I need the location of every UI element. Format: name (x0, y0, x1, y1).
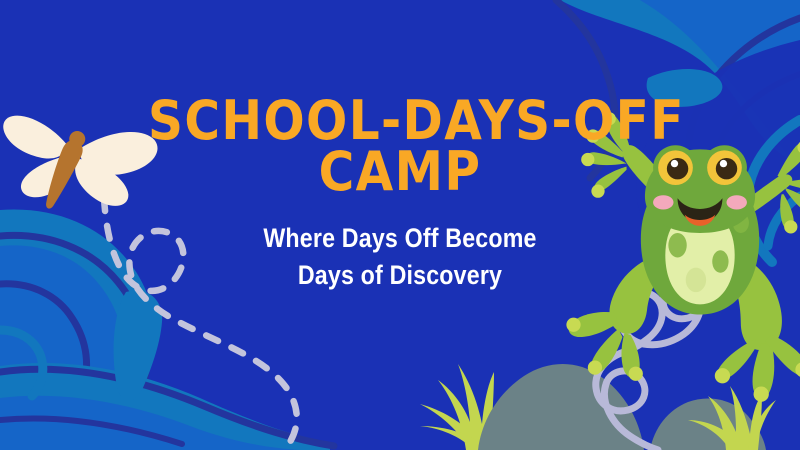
frog-cheek-right (727, 195, 747, 209)
dragonfly-wing-upper-left (0, 110, 72, 167)
subtitle-line-1: Where Days Off Become (159, 220, 641, 257)
frog-tongue (685, 215, 716, 226)
frog-eye-right-outer (702, 145, 747, 190)
page-subtitle: Where Days Off Become Days of Discovery (159, 220, 641, 295)
headline-block: SCHOOL-DAYS-OFF CAMP Where Days Off Beco… (120, 96, 680, 294)
grass-tuft-left (420, 364, 494, 450)
frog-pupil-right (716, 158, 737, 179)
dragonfly-head (67, 129, 88, 150)
rock-large (478, 364, 644, 450)
frog-arm-right (735, 141, 800, 234)
grass-tuft-right (688, 386, 776, 450)
rock-small (650, 398, 766, 450)
page-title: SCHOOL-DAYS-OFF CAMP (148, 96, 652, 198)
frog-back-leg-right (715, 251, 800, 401)
frog-eye-right-ring (707, 150, 742, 185)
dragonfly-wing-lower-left (18, 144, 75, 207)
camp-flyer: SCHOOL-DAYS-OFF CAMP Where Days Off Beco… (0, 0, 800, 450)
title-line-2: CAMP (148, 147, 652, 198)
frog-mouth (678, 198, 723, 222)
subtitle-line-2: Days of Discovery (159, 257, 641, 294)
dragonfly-body (40, 137, 86, 212)
